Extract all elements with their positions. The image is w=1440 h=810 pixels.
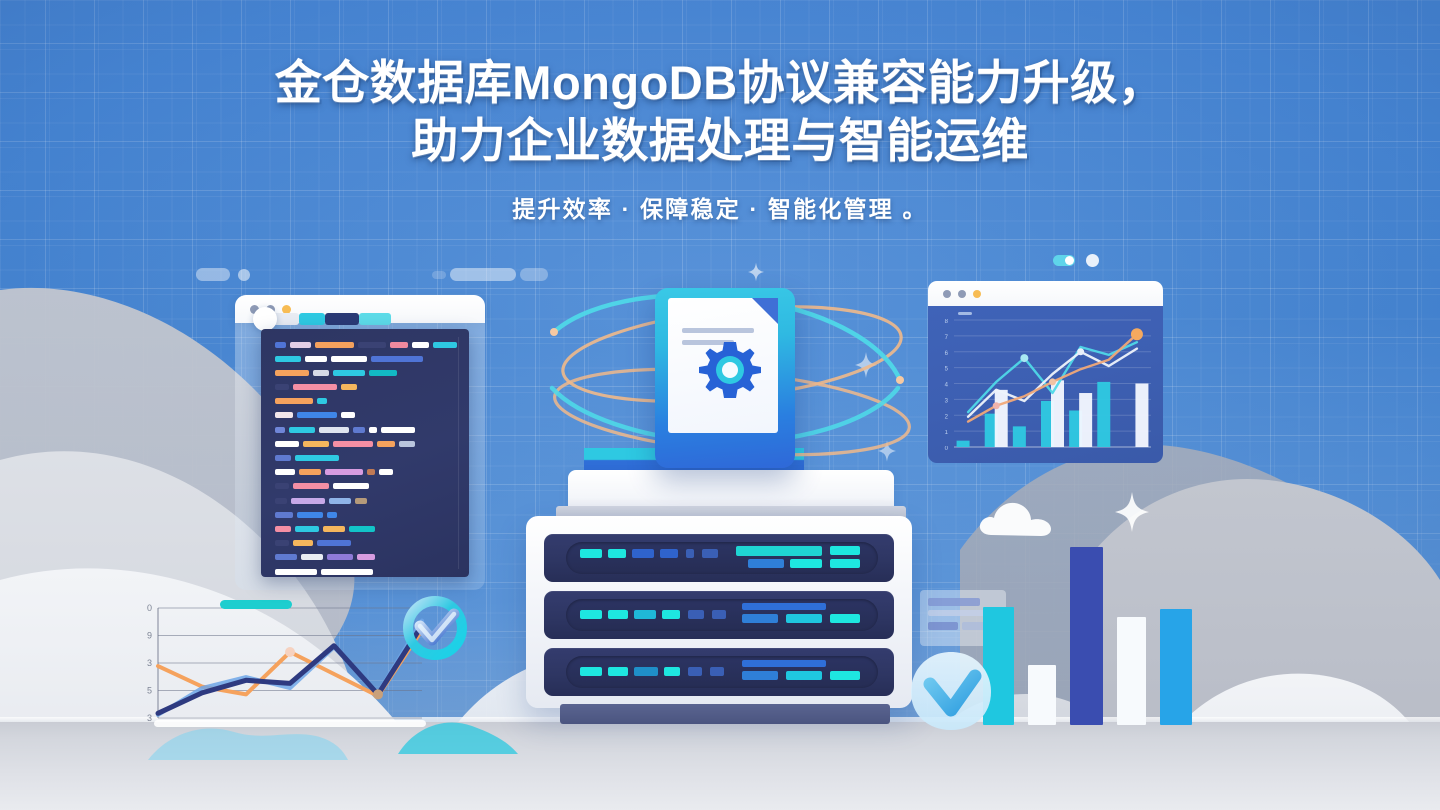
svg-text:1: 1 <box>945 430 949 436</box>
decor-dot <box>238 269 250 281</box>
status-led <box>634 667 658 676</box>
decor-pill <box>432 271 446 279</box>
code-token <box>275 427 285 433</box>
kpi-bar <box>1028 665 1056 725</box>
performance-line-chart: 09353 <box>132 590 432 740</box>
status-led <box>710 667 724 676</box>
code-line <box>275 355 457 362</box>
code-token <box>275 512 293 518</box>
code-token <box>379 469 393 475</box>
code-tab[interactable] <box>359 313 391 325</box>
code-line <box>275 440 457 447</box>
code-token <box>357 554 375 560</box>
code-editor-window[interactable] <box>235 295 485 590</box>
svg-text:3: 3 <box>147 658 152 668</box>
code-gutter-line <box>458 337 459 569</box>
status-led <box>786 671 822 680</box>
status-led <box>634 610 656 619</box>
code-token <box>293 540 313 546</box>
code-line <box>275 483 457 490</box>
code-token <box>299 469 321 475</box>
document-fold-corner <box>752 298 778 324</box>
status-led <box>608 549 626 558</box>
window-maximize-dot[interactable] <box>973 290 981 298</box>
decor-dot <box>1086 254 1099 267</box>
code-token <box>341 412 355 418</box>
code-token <box>329 498 351 504</box>
server-unit-face <box>566 542 878 574</box>
code-token <box>301 554 323 560</box>
code-tab[interactable] <box>299 313 325 325</box>
code-token <box>290 342 310 348</box>
svg-text:4: 4 <box>945 383 949 389</box>
status-led <box>790 559 822 568</box>
code-token <box>327 512 337 518</box>
code-token <box>305 356 327 362</box>
code-line <box>275 455 457 462</box>
code-token <box>317 398 327 404</box>
svg-text:5: 5 <box>147 686 152 696</box>
document-text-line <box>682 328 754 333</box>
toggle-switch-icon[interactable] <box>1053 255 1075 266</box>
kpi-bar-group <box>975 525 1220 725</box>
status-led <box>712 610 726 619</box>
status-led <box>632 549 654 558</box>
chart-plot-area: 876543210 <box>928 306 1163 463</box>
svg-text:3: 3 <box>147 713 152 723</box>
status-led <box>830 559 860 568</box>
status-led <box>830 546 860 555</box>
code-token <box>275 540 289 546</box>
status-led <box>830 671 860 680</box>
code-token <box>349 526 375 532</box>
code-cursor-knob <box>253 307 277 331</box>
document-card[interactable] <box>655 288 795 468</box>
hero-subtitle: 提升效率 · 保障稳定 · 智能化管理 。 <box>0 190 1440 224</box>
hero-banner: 金仓数据库MongoDB协议兼容能力升级， 助力企业数据处理与智能运维 提升效率… <box>0 0 1440 810</box>
code-token <box>291 498 325 504</box>
window-minimize-dot[interactable] <box>958 290 966 298</box>
code-token <box>367 469 375 475</box>
code-line <box>275 384 457 391</box>
status-led <box>786 614 822 623</box>
svg-text:2: 2 <box>945 414 949 420</box>
code-token <box>275 526 291 532</box>
status-led <box>702 549 718 558</box>
decor-pill <box>196 268 230 281</box>
code-token <box>275 498 287 504</box>
hero-headline: 金仓数据库MongoDB协议兼容能力升级， 助力企业数据处理与智能运维 提升效率… <box>0 54 1440 224</box>
code-token <box>377 441 395 447</box>
kpi-bar <box>1117 617 1146 725</box>
code-token <box>275 554 297 560</box>
status-led <box>830 614 860 623</box>
code-token <box>369 370 397 376</box>
svg-text:0: 0 <box>147 603 152 613</box>
code-token <box>295 526 319 532</box>
code-token <box>275 384 289 390</box>
code-token <box>275 342 286 348</box>
status-led <box>580 549 602 558</box>
code-token <box>390 342 409 348</box>
code-token <box>289 427 315 433</box>
code-line <box>275 568 457 575</box>
status-led <box>686 549 694 558</box>
code-line <box>275 469 457 476</box>
code-token <box>295 455 339 461</box>
code-token <box>275 469 295 475</box>
server-unit[interactable] <box>544 591 894 639</box>
code-token <box>297 412 337 418</box>
svg-text:9: 9 <box>147 631 152 641</box>
code-token <box>323 526 345 532</box>
svg-text:3: 3 <box>945 398 949 404</box>
svg-text:5: 5 <box>945 367 949 373</box>
code-token <box>303 441 329 447</box>
svg-text:6: 6 <box>945 351 949 357</box>
code-token <box>275 398 313 404</box>
code-token <box>293 384 337 390</box>
code-token <box>325 469 363 475</box>
code-editor-body[interactable] <box>261 329 469 577</box>
status-led <box>742 660 826 667</box>
decor-pill <box>450 268 516 281</box>
status-led <box>660 549 678 558</box>
svg-text:8: 8 <box>945 319 949 325</box>
server-unit[interactable] <box>544 648 894 696</box>
code-token <box>275 370 309 376</box>
code-token <box>331 356 367 362</box>
check-circle-icon[interactable] <box>396 592 474 670</box>
server-unit-face <box>566 656 878 688</box>
code-line <box>275 426 457 433</box>
window-close-dot[interactable] <box>943 290 951 298</box>
status-led <box>580 667 602 676</box>
window-titlebar[interactable] <box>928 281 1163 306</box>
code-token <box>327 554 353 560</box>
kpi-bar <box>1160 609 1192 725</box>
code-line <box>275 511 457 518</box>
status-led <box>608 610 628 619</box>
status-led <box>664 667 680 676</box>
code-token <box>315 342 354 348</box>
status-led <box>742 671 778 680</box>
code-token <box>333 370 365 376</box>
code-token <box>275 356 301 362</box>
server-unit-face <box>566 599 878 631</box>
code-token <box>275 412 293 418</box>
server-unit[interactable] <box>544 534 894 582</box>
code-token <box>275 569 317 575</box>
code-token <box>313 370 329 376</box>
code-token <box>412 342 429 348</box>
code-line <box>275 540 457 547</box>
status-led <box>688 667 702 676</box>
status-led <box>662 610 680 619</box>
code-tab[interactable] <box>325 313 359 325</box>
chart-header-pill <box>220 600 292 609</box>
title-line-1: 金仓数据库MongoDB协议兼容能力升级， <box>0 54 1440 112</box>
code-line <box>275 554 457 561</box>
code-token <box>353 427 365 433</box>
status-led <box>608 667 628 676</box>
line-chart-svg: 09353 <box>132 590 432 740</box>
code-token <box>317 540 351 546</box>
code-token <box>321 569 373 575</box>
status-led <box>742 614 778 623</box>
status-led <box>736 546 822 556</box>
code-token <box>355 498 367 504</box>
code-token <box>371 356 423 362</box>
code-token <box>297 512 323 518</box>
kpi-bar <box>1070 547 1103 725</box>
rack-base <box>560 704 890 724</box>
code-line <box>275 369 457 376</box>
status-led <box>748 559 784 568</box>
analytics-chart-window[interactable]: 876543210 <box>928 281 1163 463</box>
code-token <box>333 483 369 489</box>
gear-icon[interactable] <box>699 338 761 405</box>
code-line <box>275 412 457 419</box>
code-token <box>293 483 329 489</box>
code-line <box>275 398 457 405</box>
title-line-2: 助力企业数据处理与智能运维 <box>0 112 1440 170</box>
code-lines <box>275 341 457 575</box>
toggle-knob <box>1065 256 1074 265</box>
code-token <box>381 427 415 433</box>
code-line <box>275 525 457 532</box>
code-token <box>319 427 349 433</box>
code-token <box>399 441 415 447</box>
status-led <box>688 610 704 619</box>
server-rack[interactable] <box>526 516 912 708</box>
code-token <box>358 342 386 348</box>
chart-svg: 876543210 <box>928 306 1163 463</box>
svg-text:7: 7 <box>945 335 949 341</box>
code-token <box>433 342 457 348</box>
code-line <box>275 341 457 348</box>
code-token <box>341 384 357 390</box>
code-token <box>369 427 377 433</box>
code-line <box>275 497 457 504</box>
code-token <box>275 455 291 461</box>
code-tab-strip[interactable] <box>259 313 449 325</box>
check-shield-icon[interactable] <box>905 648 997 734</box>
status-led <box>580 610 602 619</box>
code-token <box>333 441 373 447</box>
status-led <box>742 603 826 610</box>
code-token <box>275 483 289 489</box>
code-token <box>275 441 299 447</box>
config-document-group <box>600 270 860 500</box>
